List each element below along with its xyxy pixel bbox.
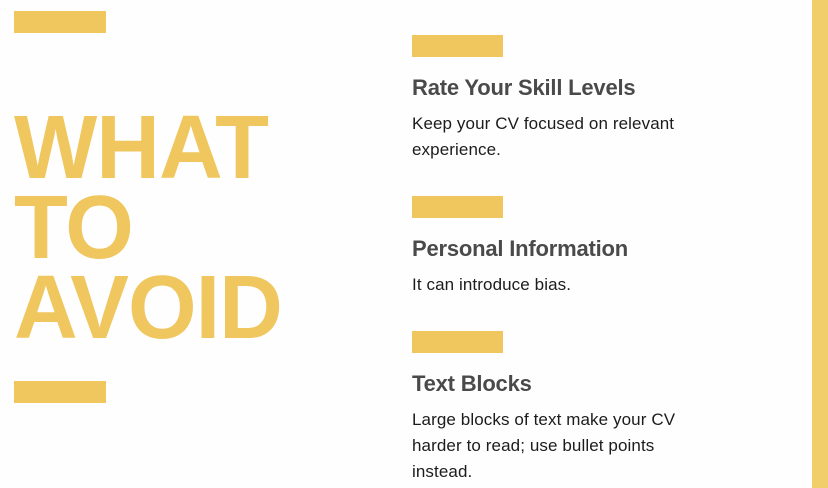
tip-item-1: Rate Your Skill Levels Keep your CV focu… — [412, 35, 742, 163]
tip-body-1: Keep your CV focused on relevant experie… — [412, 111, 712, 163]
bottom-accent-bar — [14, 381, 106, 403]
tip-title-2: Personal Information — [412, 236, 742, 262]
tip-title-1: Rate Your Skill Levels — [412, 75, 742, 101]
tip-title-3: Text Blocks — [412, 371, 742, 397]
left-column: WHAT TO AVOID — [0, 0, 400, 488]
page-title: WHAT TO AVOID — [14, 108, 282, 348]
tip-body-3: Large blocks of text make your CV harder… — [412, 407, 712, 485]
tips-column: Rate Your Skill Levels Keep your CV focu… — [412, 0, 802, 488]
top-accent-bar — [14, 11, 106, 33]
tip-marker-bar-icon — [412, 35, 503, 57]
tip-marker-bar-icon — [412, 196, 503, 218]
tip-marker-bar-icon — [412, 331, 503, 353]
slide-canvas: WHAT TO AVOID Rate Your Skill Levels Kee… — [0, 0, 828, 488]
tip-body-2: It can introduce bias. — [412, 272, 712, 298]
right-edge-accent-stripe — [812, 0, 828, 488]
tip-item-2: Personal Information It can introduce bi… — [412, 196, 742, 298]
tip-item-3: Text Blocks Large blocks of text make yo… — [412, 331, 742, 485]
